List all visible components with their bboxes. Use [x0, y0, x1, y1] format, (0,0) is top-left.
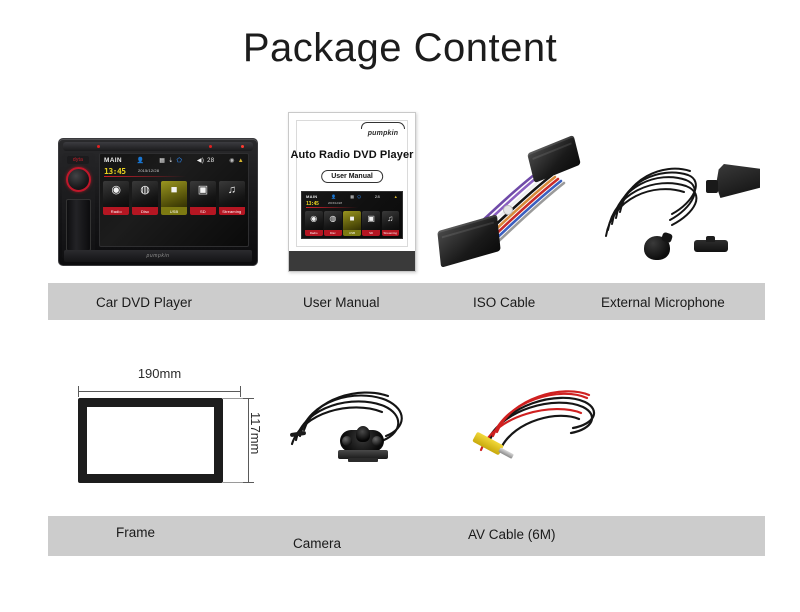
screen-clock-row: 13:45 2015/12/28: [306, 201, 398, 209]
dimension-cap: [240, 386, 241, 397]
screen-tile-disc: ◍ Disc: [132, 181, 158, 215]
usb-icon: ■: [171, 184, 178, 197]
dimension-label-height: 117mm: [248, 412, 263, 454]
product-label-camera: Camera: [293, 536, 341, 551]
product-image-user-manual: pumpkin Auto Radio DVD Player User Manua…: [288, 112, 416, 272]
dvd-mini-button: dyta: [67, 156, 89, 164]
manual-cover-footer: [289, 251, 415, 271]
dvd-top-strip: [63, 142, 253, 151]
screen-tile-streaming: ♫ Streaming: [382, 211, 400, 236]
screen-date: 2015/12/28: [328, 202, 342, 205]
wire-tie-icon: [504, 206, 513, 215]
product-label-car-dvd-player: Car DVD Player: [96, 295, 192, 310]
volume-level: 28: [375, 195, 380, 199]
screen-tile-label: SD: [362, 230, 380, 236]
dimension-cap: [78, 386, 79, 397]
screen-tile-disc: ◍ Disc: [324, 211, 342, 236]
manual-screenshot: MAIN 👤 ▦ ⬠ 28 ▲ 13:45 2015/12/28: [301, 191, 403, 239]
package-content-page: Package Content dyta MAIN 👤 ▦ ⇣: [0, 0, 800, 612]
dimension-label-width: 190mm: [78, 366, 241, 381]
microphone-clip-accessory: [694, 240, 728, 252]
product-image-car-dvd-player: dyta MAIN 👤 ▦ ⇣ ⬠ ◀) 28 ◉: [58, 138, 258, 266]
screen-date: 2015/12/28: [138, 168, 159, 173]
dvd-led-indicator: [97, 145, 100, 148]
screen-tile-label: USB: [343, 230, 361, 236]
streaming-icon: ♫: [387, 214, 393, 224]
volume-knob-icon: [66, 167, 91, 192]
microphone-bracket-tab: [706, 180, 718, 193]
dvd-chassis: dyta MAIN 👤 ▦ ⇣ ⬠ ◀) 28 ◉: [58, 138, 258, 266]
product-image-iso-cable: [430, 140, 585, 265]
screen-app-tiles: ◉ Radio ◍ Disc ■ USB ▣ SD: [305, 211, 399, 236]
product-image-external-microphone: [600, 150, 768, 268]
sd-card-icon: ▦: [159, 158, 165, 164]
manual-cover: pumpkin Auto Radio DVD Player User Manua…: [288, 112, 416, 272]
dimension-cap: [243, 398, 254, 399]
screen-tile-label: Radio: [305, 230, 323, 236]
screen-status-title: MAIN: [306, 194, 317, 199]
screen-accent-line: [104, 176, 186, 177]
label-band-row-2: Frame Camera AV Cable (6M): [48, 516, 765, 556]
volume-level: 28: [207, 158, 214, 164]
camera-lens-icon: [356, 426, 370, 442]
product-label-av-cable: AV Cable (6M): [468, 527, 556, 542]
screen-accent-line: [306, 207, 358, 208]
screen-tile-label: Streaming: [382, 230, 400, 236]
equalizer-icon: ▲: [394, 195, 398, 199]
car-silhouette-icon: [361, 122, 405, 129]
brand-logo: pumpkin: [146, 253, 169, 259]
screen-tile-radio: ◉ Radio: [103, 181, 129, 215]
screen-tile-usb: ■ USB: [161, 181, 187, 215]
frame-bezel-icon: [78, 398, 223, 483]
brand-logo-icon: pumpkin: [359, 121, 407, 137]
screen-tile-sd: ▣ SD: [362, 211, 380, 236]
dvd-led-indicator: [209, 145, 212, 148]
sd-icon: ▣: [198, 184, 208, 197]
manual-title: Auto Radio DVD Player: [289, 149, 415, 161]
screen-app-tiles: ◉ Radio ◍ Disc ■ USB ▣ SD: [103, 181, 245, 215]
dimension-cap: [243, 482, 254, 483]
screen-tile-usb: ■ USB: [343, 211, 361, 236]
download-icon: ⇣: [168, 158, 173, 164]
page-title: Package Content: [0, 26, 800, 71]
record-icon: ◉: [229, 158, 235, 164]
screen-status-bar: MAIN 👤 ▦ ⬠ 28 ▲: [302, 192, 402, 201]
product-label-frame: Frame: [116, 525, 155, 540]
screen-tile-label: Disc: [324, 230, 342, 236]
screen-clock-row: 13:45 2015/12/28: [104, 167, 244, 178]
product-image-frame: 190mm 117mm: [52, 360, 267, 505]
screen-tile-label: SD: [190, 207, 216, 215]
camera-mount-foot: [348, 458, 378, 462]
camera-led-icon: [342, 436, 352, 446]
screen-tile-label: Streaming: [219, 207, 245, 215]
dvd-screen: MAIN 👤 ▦ ⇣ ⬠ ◀) 28 ◉ ▲ 13:45 2015/12/: [99, 153, 249, 247]
screen-status-bar: MAIN 👤 ▦ ⇣ ⬠ ◀) 28 ◉ ▲: [100, 154, 248, 167]
screen-tile-streaming: ♫ Streaming: [219, 181, 245, 215]
product-image-camera: [282, 382, 432, 490]
brand-logo-text: pumpkin: [368, 130, 399, 137]
radio-icon: ◉: [310, 214, 317, 224]
product-image-av-cable: [455, 382, 610, 490]
dvd-bottom-bar: pumpkin: [64, 250, 252, 262]
screen-tile-sd: ▣ SD: [190, 181, 216, 215]
streaming-icon: ♫: [228, 184, 236, 197]
disc-slot-icon: [66, 199, 91, 251]
screen-tile-label: Disc: [132, 207, 158, 215]
screen-clock: 13:45: [104, 167, 126, 176]
bluetooth-icon: ⬠: [177, 158, 183, 164]
product-label-external-microphone: External Microphone: [601, 295, 725, 310]
camera-led-icon: [372, 436, 382, 446]
dimension-line-width: [78, 391, 241, 392]
screen-tile-label: Radio: [103, 207, 129, 215]
manual-badge: User Manual: [321, 170, 383, 183]
dvd-control-panel: dyta: [62, 153, 95, 259]
product-label-user-manual: User Manual: [303, 295, 380, 310]
disc-icon: ◍: [329, 214, 336, 224]
screen-status-title: MAIN: [104, 157, 122, 164]
equalizer-icon: ▲: [238, 158, 244, 164]
disc-icon: ◍: [140, 184, 150, 197]
screen-tile-radio: ◉ Radio: [305, 211, 323, 236]
speaker-icon: ◀): [197, 158, 204, 164]
usb-icon: ■: [350, 214, 355, 224]
sd-icon: ▣: [367, 214, 375, 224]
screen-tile-label: USB: [161, 207, 187, 215]
person-icon: 👤: [137, 158, 145, 164]
radio-icon: ◉: [111, 184, 121, 197]
sd-card-icon: ▦: [350, 195, 354, 199]
person-icon: 👤: [331, 195, 336, 199]
bluetooth-icon: ⬠: [357, 195, 361, 199]
product-label-iso-cable: ISO Cable: [473, 295, 535, 310]
label-band-row-1: Car DVD Player User Manual ISO Cable Ext…: [48, 283, 765, 320]
dvd-led-indicator: [241, 145, 244, 148]
